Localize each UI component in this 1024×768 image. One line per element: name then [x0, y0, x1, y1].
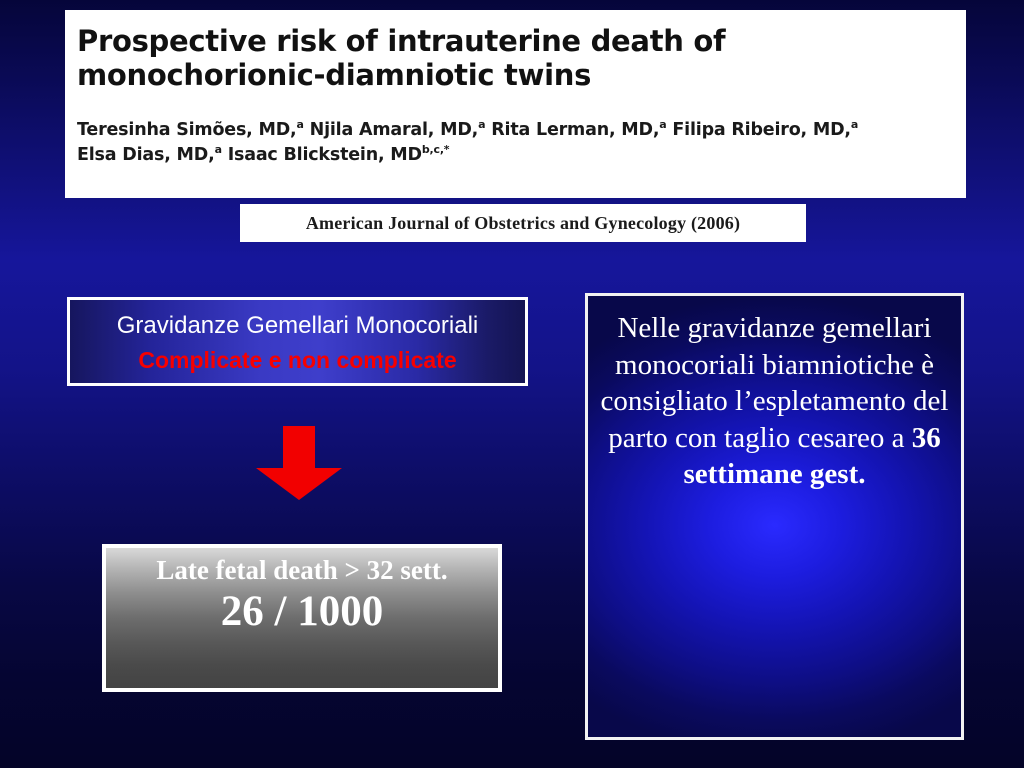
journal-citation-text: American Journal of Obstetrics and Gynec… [306, 213, 740, 234]
affiliation-marker: a [215, 143, 222, 156]
late-fetal-death-rate: 26 / 1000 [106, 588, 498, 636]
recommendation-text-regular: Nelle gravidanze gemellari monocoriali b… [601, 312, 949, 454]
affiliation-marker: a [297, 118, 304, 131]
affiliation-marker: a [659, 118, 666, 131]
recommendation-text: Nelle gravidanze gemellari monocoriali b… [598, 310, 951, 493]
late-fetal-death-box: Late fetal death > 32 sett. 26 / 1000 [102, 544, 502, 692]
author-segment: Teresinha Simões, MD, [77, 120, 297, 140]
paper-header-card: Prospective risk of intrauterine death o… [65, 10, 966, 198]
paper-title: Prospective risk of intrauterine death o… [77, 24, 954, 92]
affiliation-marker: b,c,* [422, 143, 450, 156]
paper-authors: Teresinha Simões, MD,a Njila Amaral, MD,… [77, 118, 954, 167]
late-fetal-death-label: Late fetal death > 32 sett. [106, 556, 498, 586]
slide-canvas: Prospective risk of intrauterine death o… [0, 0, 1024, 768]
author-segment: Isaac Blickstein, MD [222, 145, 422, 165]
author-segment: Rita Lerman, MD, [485, 120, 659, 140]
red-down-arrow-icon [252, 424, 346, 502]
monochorionic-pregnancies-title: Gravidanze Gemellari Monocoriali [117, 312, 478, 340]
author-segment: Njila Amaral, MD, [304, 120, 478, 140]
author-segment: Elsa Dias, MD, [77, 145, 215, 165]
monochorionic-pregnancies-box: Gravidanze Gemellari Monocoriali Complic… [67, 297, 528, 386]
author-segment: Filipa Ribeiro, MD, [667, 120, 851, 140]
complicated-uncomplicated-label: Complicate e non complicate [138, 347, 456, 373]
journal-citation-card: American Journal of Obstetrics and Gynec… [240, 204, 806, 242]
recommendation-panel: Nelle gravidanze gemellari monocoriali b… [585, 293, 964, 740]
affiliation-marker: a [851, 118, 858, 131]
